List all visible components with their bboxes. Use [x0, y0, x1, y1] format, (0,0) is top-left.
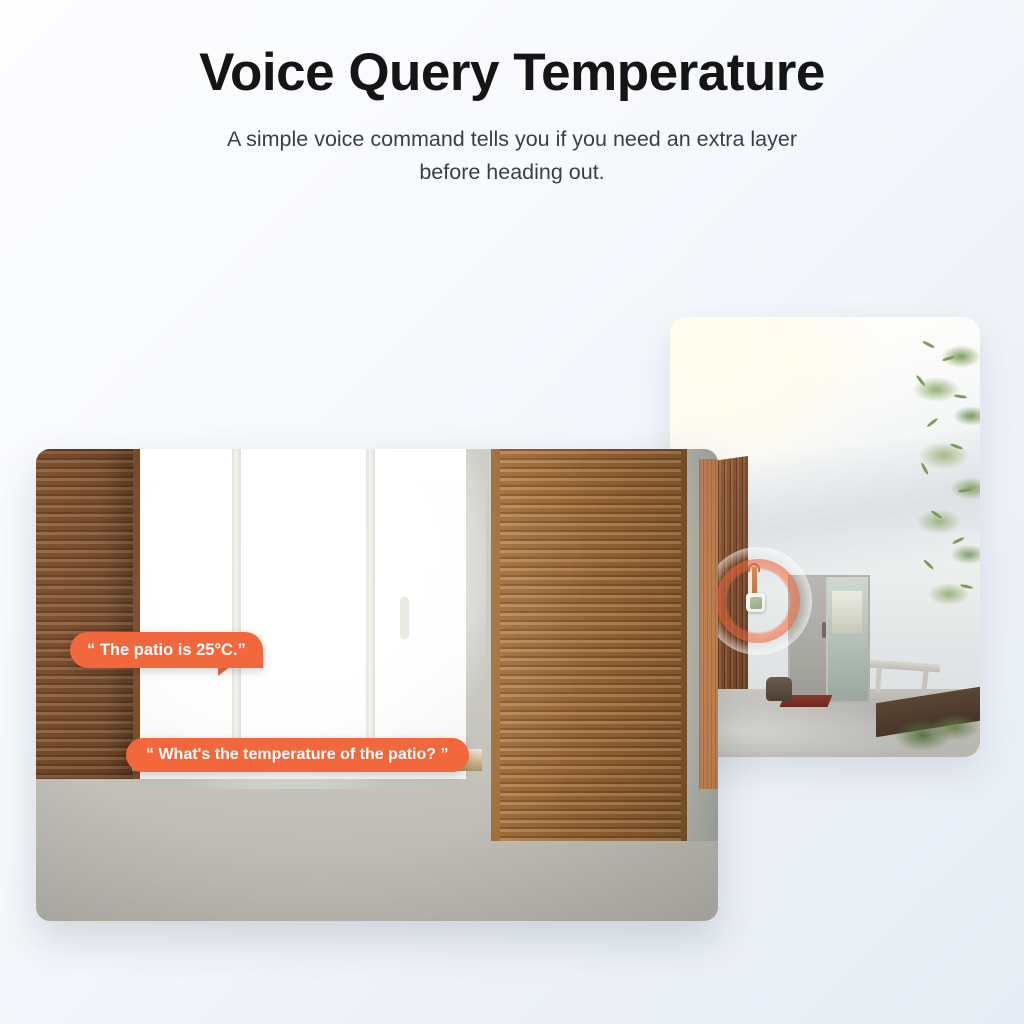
photo-bedroom-stretching [36, 449, 718, 921]
patio-olive-tree [862, 317, 980, 647]
sensor-strap [752, 567, 757, 595]
temperature-sensor-device [746, 593, 765, 612]
bedroom-vignette [36, 449, 718, 921]
bedroom-scene [36, 449, 718, 921]
header-section: Voice Query Temperature A simple voice c… [0, 0, 1024, 189]
page-subtitle: A simple voice command tells you if you … [0, 123, 1024, 188]
speech-bubble-question: “ What's the temperature of the patio? ” [126, 738, 469, 772]
patio-planter [766, 677, 792, 701]
patio-shrub [886, 699, 978, 751]
speech-bubble-answer: “ The patio is 25°C.” [70, 632, 263, 668]
page-title: Voice Query Temperature [0, 44, 1024, 101]
page-root: Voice Query Temperature A simple voice c… [0, 0, 1024, 1024]
patio-door-handle [822, 622, 826, 638]
page-subtitle-line-1: A simple voice command tells you if you … [0, 123, 1024, 156]
page-subtitle-line-2: before heading out. [0, 156, 1024, 189]
